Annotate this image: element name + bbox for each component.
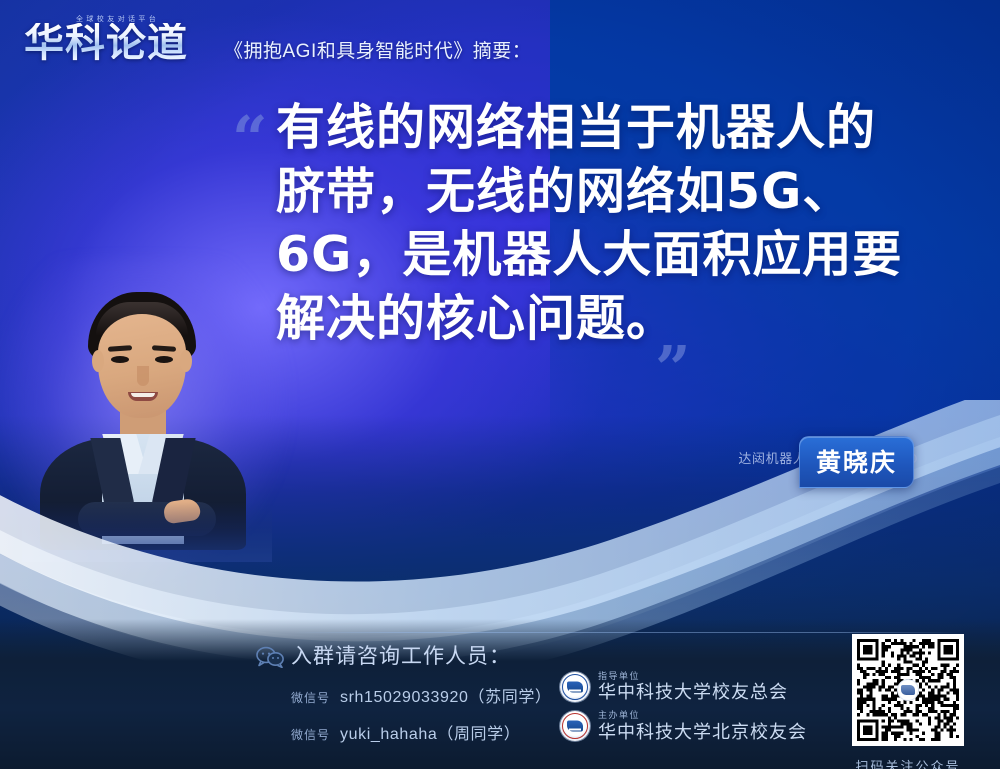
seal-core (567, 682, 583, 693)
wechat-icon (255, 646, 285, 668)
brand-logo[interactable]: 全球校友对话平台 华科论道 (24, 14, 214, 70)
contact-block: 入群请咨询工作人员： 微信号 srh15029033920（苏同学） 微信号 y… (291, 640, 552, 744)
speaker-name-badge: 黄晓庆 (799, 436, 914, 488)
organization-kind: 主办单位 (598, 711, 807, 720)
contact-value[interactable]: yuki_hahaha（周同学） (340, 720, 520, 744)
contact-title: 入群请咨询工作人员： (291, 640, 552, 670)
hust-seal-icon (560, 711, 590, 741)
organization-kind: 指导单位 (598, 672, 788, 681)
organization-row: 主办单位 华中科技大学北京校友会 (560, 711, 807, 741)
qr-block: 扫码关注公众号 (843, 634, 973, 769)
portrait-nose (137, 366, 149, 386)
page-title: 《拥抱AGI和具身智能时代》摘要： (224, 36, 531, 63)
portrait-eye-right (155, 356, 173, 363)
quote-line: 有线的网络相当于机器人的 (276, 96, 956, 160)
qr-code[interactable] (852, 634, 964, 746)
quote-line: 脐带，无线的网络如5G、 (276, 160, 956, 224)
organizations-block: 指导单位 华中科技大学校友总会 主办单位 华中科技大学北京校友会 (560, 672, 807, 751)
organization-text: 主办单位 华中科技大学北京校友会 (598, 711, 807, 741)
logo-wordmark: 华科论道 (24, 23, 188, 63)
header-bar: 全球校友对话平台 华科论道 《拥抱AGI和具身智能时代》摘要： (0, 0, 1000, 86)
portrait-eye-left (111, 356, 129, 363)
contact-label: 微信号 (291, 726, 330, 743)
contact-row: 微信号 srh15029033920（苏同学） (291, 683, 552, 707)
footer-divider (290, 632, 960, 633)
quote-line: 6G，是机器人大面积应用要 (276, 223, 956, 287)
organization-name: 华中科技大学校友总会 (598, 683, 788, 702)
seal-core (567, 721, 583, 732)
qr-center-logo-icon (898, 680, 918, 700)
contact-label: 微信号 (291, 689, 330, 706)
contact-row: 微信号 yuki_hahaha（周同学） (291, 720, 552, 744)
quote-open-mark: “ (232, 108, 268, 170)
quote-close-mark: ” (655, 338, 691, 400)
portrait-ear-left (92, 350, 104, 372)
hust-seal-icon (560, 672, 590, 702)
quote-line: 解决的核心问题。 (276, 287, 956, 351)
organization-row: 指导单位 华中科技大学校友总会 (560, 672, 807, 702)
quote-text: 有线的网络相当于机器人的 脐带，无线的网络如5G、 6G，是机器人大面积应用要 … (276, 96, 956, 351)
qr-caption: 扫码关注公众号 (843, 756, 973, 769)
contact-value[interactable]: srh15029033920（苏同学） (340, 683, 552, 707)
organization-name: 华中科技大学北京校友会 (598, 723, 807, 742)
organization-text: 指导单位 华中科技大学校友总会 (598, 672, 788, 702)
portrait-ear-right (180, 350, 192, 372)
poster-root: 全球校友对话平台 华科论道 《拥抱AGI和具身智能时代》摘要： “ 有线的网络相… (0, 0, 1000, 769)
